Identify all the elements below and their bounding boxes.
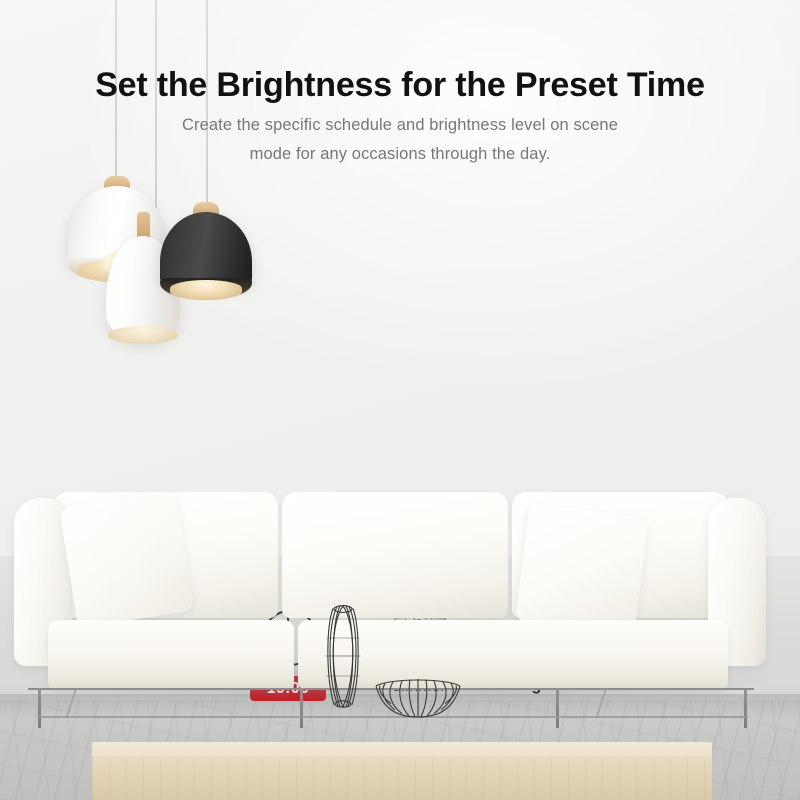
sofa-leg bbox=[744, 688, 747, 728]
white-sofa bbox=[14, 488, 766, 688]
flow-diagram: 19:00 dimmer Brightness: 80% bbox=[0, 296, 800, 416]
page-title: Set the Brightness for the Preset Time bbox=[0, 66, 800, 105]
wire-bowl-decor bbox=[374, 676, 462, 720]
throw-pillow bbox=[515, 503, 648, 635]
back-cushion bbox=[282, 492, 508, 618]
sofa-leg bbox=[556, 688, 559, 728]
lamp-cord-2 bbox=[155, 0, 157, 216]
sofa-leg bbox=[300, 688, 303, 728]
seat-cushion bbox=[48, 620, 294, 690]
subtitle-line-2: mode for any occasions through the day. bbox=[0, 145, 800, 164]
coffee-table-grain bbox=[92, 756, 712, 800]
subtitle-line-1: Create the specific schedule and brightn… bbox=[0, 116, 800, 135]
throw-pillow bbox=[59, 490, 195, 629]
product-banner: Set the Brightness for the Preset Time C… bbox=[0, 0, 800, 800]
sofa-leg bbox=[38, 688, 41, 728]
wire-vase-decor bbox=[322, 600, 364, 712]
